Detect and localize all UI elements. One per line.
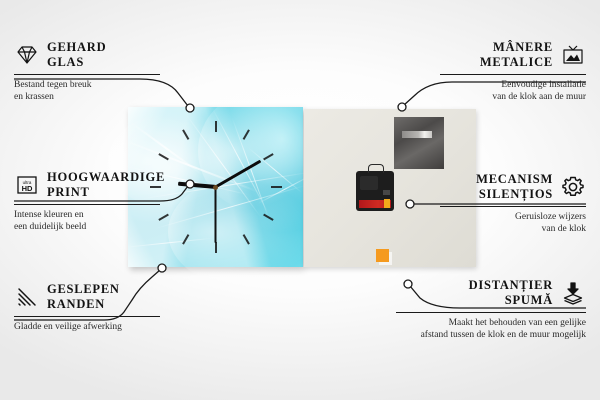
callout-description: Maakt het behouden van een gelijke afsta…: [396, 317, 586, 343]
callout-title: MECANISM SILENȚIOS: [476, 172, 553, 203]
mechanism-hook: [368, 164, 384, 173]
callout-description: Gladde en veilige afwerking: [14, 321, 160, 334]
callout-geslepen-randen: GESLEPEN RANDEN Gladde en veilige afwerk…: [14, 282, 160, 333]
battery-terminal: [384, 199, 390, 208]
clock-second-hand: [215, 187, 217, 243]
hanger-slot: [402, 131, 432, 138]
mechanism-detail-secondary: [383, 190, 390, 195]
ultra-hd-icon: ultra HD: [14, 172, 40, 198]
mechanism-detail: [360, 176, 378, 190]
callout-rule: [14, 74, 160, 75]
diamond-icon: [14, 42, 40, 68]
callout-header: GESLEPEN RANDEN: [14, 282, 160, 313]
callout-gehard-glas: GEHARD GLAS Bestand tegen breuk en krass…: [14, 40, 160, 104]
callout-rule: [14, 204, 160, 205]
clock-mechanism-module: [356, 171, 394, 211]
callout-title: GESLEPEN RANDEN: [47, 282, 120, 313]
callout-description: Intense kleuren en een duidelijk beeld: [14, 209, 160, 235]
diagonal-lines-icon: [14, 284, 40, 310]
callout-manere-metalice: MÂNERE METALICE Eenvoudige installatie v…: [440, 40, 586, 104]
callout-rule: [440, 74, 586, 75]
callout-rule: [14, 316, 160, 317]
callout-header: DISTANȚIER SPUMĂ: [396, 278, 586, 309]
callout-header: MECANISM SILENȚIOS: [440, 172, 586, 203]
arrow-onto-layers-icon: [560, 280, 586, 306]
metal-hanger-plate: [394, 117, 444, 169]
clock-center-cap: [213, 185, 218, 190]
infographic-canvas: GEHARD GLAS Bestand tegen breuk en krass…: [0, 0, 600, 400]
callout-header: GEHARD GLAS: [14, 40, 160, 71]
framed-picture-icon: [560, 42, 586, 68]
callout-distantier-spuma: DISTANȚIER SPUMĂ Maakt het behouden van …: [396, 278, 586, 342]
product-image-group: [128, 107, 478, 269]
svg-text:HD: HD: [22, 184, 33, 193]
callout-header: MÂNERE METALICE: [440, 40, 586, 71]
foam-spacer: [376, 249, 389, 262]
gear-icon: [560, 174, 586, 200]
callout-description: Eenvoudige installatie van de klok aan d…: [440, 79, 586, 105]
callout-title: GEHARD GLAS: [47, 40, 106, 71]
callout-mecanism-silentios: MECANISM SILENȚIOS Geruisloze wijzers va…: [440, 172, 586, 236]
callout-hoogwaardige-print: ultra HD HOOGWAARDIGE PRINT Intense kleu…: [14, 170, 160, 234]
callout-rule: [396, 312, 586, 313]
callout-title: MÂNERE METALICE: [480, 40, 553, 71]
callout-title: DISTANȚIER SPUMĂ: [469, 278, 553, 309]
callout-description: Geruisloze wijzers van de klok: [440, 211, 586, 237]
callout-title: HOOGWAARDIGE PRINT: [47, 170, 165, 201]
callout-description: Bestand tegen breuk en krassen: [14, 79, 160, 105]
callout-header: ultra HD HOOGWAARDIGE PRINT: [14, 170, 160, 201]
callout-rule: [440, 206, 586, 207]
battery: [359, 200, 391, 208]
